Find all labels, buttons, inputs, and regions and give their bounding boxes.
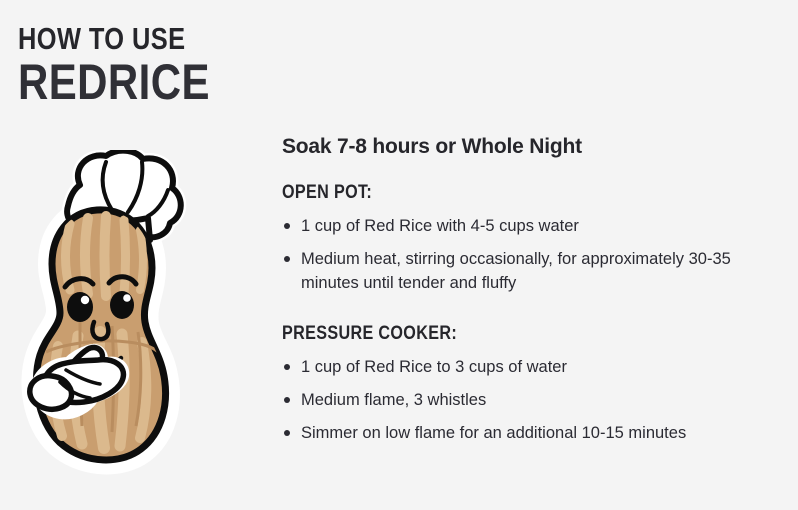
page-title: HOW TO USE REDRICE — [18, 22, 258, 107]
list-item: 1 cup of Red Rice to 3 cups of water — [282, 355, 760, 379]
list-item: Simmer on low flame for an additional 10… — [282, 421, 760, 445]
list-item: Medium heat, stirring occasionally, for … — [282, 247, 760, 295]
list-item: Medium flame, 3 whistles — [282, 388, 760, 412]
title-line-how-to-use: HOW TO USE — [18, 22, 215, 55]
pressure-cooker-subheading: PRESSURE COOKER: — [282, 323, 688, 345]
eye-left-icon — [67, 292, 93, 322]
eye-right-highlight — [123, 294, 131, 302]
open-pot-subheading: OPEN POT: — [282, 182, 688, 204]
section-pressure-cooker: PRESSURE COOKER: 1 cup of Red Rice to 3 … — [282, 323, 760, 445]
peanut-body — [36, 210, 165, 460]
eye-left-highlight — [81, 296, 89, 304]
list-item: 1 cup of Red Rice with 4-5 cups water — [282, 214, 760, 238]
instruction-card: HOW TO USE REDRICE — [0, 0, 798, 510]
instructions-content: Soak 7-8 hours or Whole Night OPEN POT: … — [282, 134, 760, 465]
pressure-cooker-list: 1 cup of Red Rice to 3 cups of water Med… — [282, 355, 760, 445]
open-pot-list: 1 cup of Red Rice with 4-5 cups water Me… — [282, 214, 760, 295]
eye-right-icon — [110, 291, 134, 319]
soak-heading: Soak 7-8 hours or Whole Night — [282, 134, 760, 160]
section-open-pot: OPEN POT: 1 cup of Red Rice with 4-5 cup… — [282, 182, 760, 295]
peanut-chef-mascot-icon — [2, 150, 252, 480]
title-line-redrice: REDRICE — [18, 57, 220, 107]
section-spacer — [282, 315, 760, 323]
